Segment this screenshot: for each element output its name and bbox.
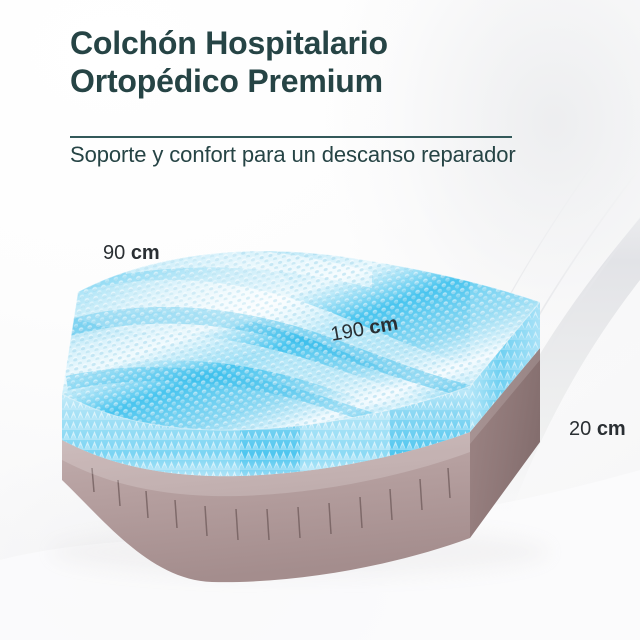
dimension-height-unit: cm: [597, 418, 626, 440]
header-block: Colchón Hospitalario Ortopédico Premium: [70, 24, 610, 100]
mattress-graphic: [0, 180, 640, 600]
page-subtitle: Soporte y confort para un descanso repar…: [70, 140, 516, 170]
dimension-height-label: 20 cm: [569, 418, 626, 440]
product-illustration: [0, 180, 640, 600]
title-divider: [70, 136, 512, 138]
dimension-height-value: 20: [569, 418, 591, 440]
dimension-width-label: 90 cm: [103, 242, 160, 264]
page-title: Colchón Hospitalario Ortopédico Premium: [70, 24, 610, 100]
dimension-width-unit: cm: [131, 242, 160, 264]
product-banner: Colchón Hospitalario Ortopédico Premium …: [0, 0, 640, 640]
dimension-width-value: 90: [103, 242, 125, 264]
